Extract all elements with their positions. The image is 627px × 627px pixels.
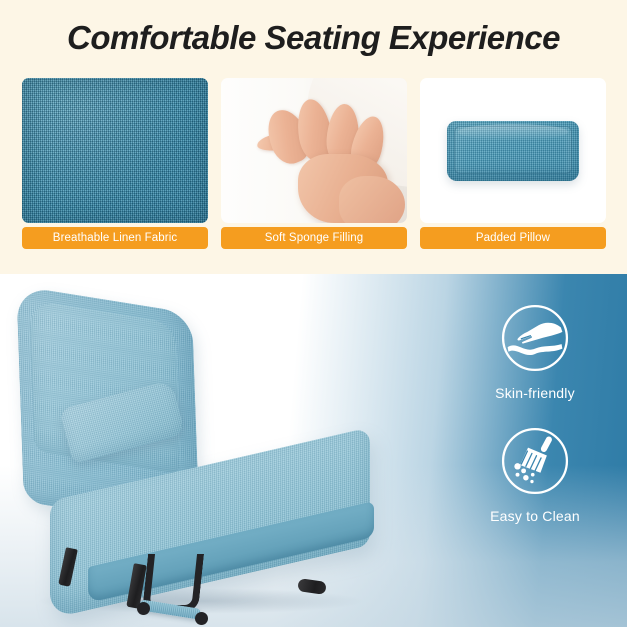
linen-texture bbox=[22, 78, 208, 223]
frame-end-cap-left bbox=[137, 602, 150, 615]
feature-skin-friendly[interactable]: Skin-friendly bbox=[495, 300, 575, 401]
feature-card-row: Breathable Linen Fabric bbox=[22, 78, 606, 256]
padded-pillow-image bbox=[420, 78, 606, 223]
thumb-base bbox=[339, 176, 406, 223]
feature-label-easy-to-clean: Easy to Clean bbox=[490, 508, 580, 524]
fabric-swatch-image bbox=[22, 78, 208, 223]
page-title: Comfortable Seating Experience bbox=[0, 18, 627, 58]
feature-card-fabric[interactable]: Breathable Linen Fabric bbox=[22, 78, 208, 256]
frame-end-cap-right bbox=[195, 612, 208, 625]
feature-icon-list: Skin-friendly Easy to Clea bbox=[461, 300, 609, 524]
feature-card-pillow[interactable]: Padded Pillow bbox=[420, 78, 606, 256]
hand-care-circle-icon bbox=[497, 300, 573, 376]
feature-card-label-fabric: Breathable Linen Fabric bbox=[22, 227, 208, 249]
sponge-foam-image bbox=[221, 78, 407, 223]
cleaning-brush-circle-icon bbox=[497, 423, 573, 499]
pillow-object bbox=[447, 121, 579, 181]
header-section: Comfortable Seating Experience Breathabl… bbox=[0, 0, 627, 274]
product-showcase-section: Skin-friendly Easy to Clea bbox=[0, 274, 627, 627]
feature-easy-to-clean[interactable]: Easy to Clean bbox=[490, 423, 580, 524]
chair-support-frame bbox=[145, 554, 205, 624]
pillow-backdrop bbox=[420, 78, 606, 223]
feature-label-skin-friendly: Skin-friendly bbox=[495, 385, 575, 401]
feature-card-label-sponge: Soft Sponge Filling bbox=[221, 227, 407, 249]
feature-card-label-pillow: Padded Pillow bbox=[420, 227, 606, 249]
product-image-chaise-lounge bbox=[8, 296, 408, 616]
feature-card-sponge[interactable]: Soft Sponge Filling bbox=[221, 78, 407, 256]
hand-illustration bbox=[254, 101, 399, 223]
foam-block bbox=[221, 78, 407, 223]
